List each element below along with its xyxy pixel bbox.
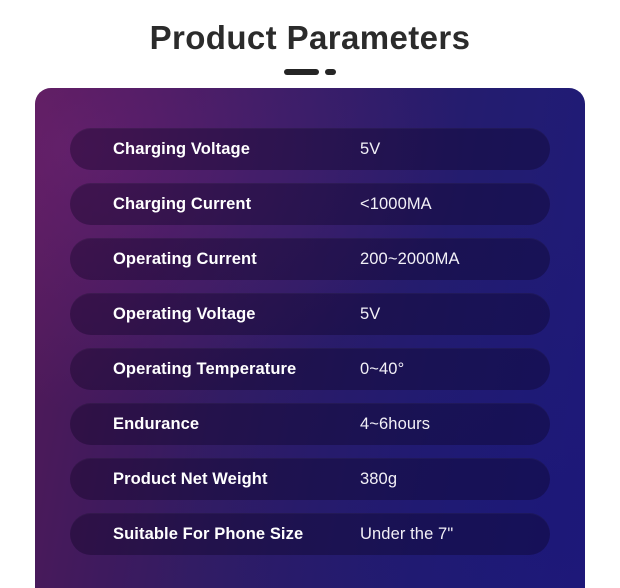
spec-value: <1000MA (360, 195, 432, 214)
product-parameters-page: Product Parameters Charging Voltage 5V C… (0, 0, 620, 565)
spec-row: Operating Current 200~2000MA (70, 238, 550, 280)
spec-label: Charging Voltage (113, 140, 250, 159)
spec-row: Endurance 4~6hours (70, 403, 550, 445)
short-dash-icon (325, 69, 336, 75)
spec-value: 0~40° (360, 360, 404, 379)
spec-row: Charging Voltage 5V (70, 128, 550, 170)
spec-label: Operating Temperature (113, 360, 296, 379)
spec-label: Operating Voltage (113, 305, 256, 324)
spec-card: Charging Voltage 5V Charging Current <10… (35, 88, 585, 588)
long-dash-icon (284, 69, 319, 75)
spec-label: Charging Current (113, 195, 251, 214)
spec-row: Operating Temperature 0~40° (70, 348, 550, 390)
spec-row: Operating Voltage 5V (70, 293, 550, 335)
spec-label: Endurance (113, 415, 199, 434)
spec-value: Under the 7" (360, 525, 453, 544)
title-divider (0, 68, 620, 76)
page-title: Product Parameters (0, 0, 620, 58)
spec-row: Suitable For Phone Size Under the 7" (70, 513, 550, 555)
spec-row: Product Net Weight 380g (70, 458, 550, 500)
spec-value: 380g (360, 470, 397, 489)
spec-value: 5V (360, 305, 380, 324)
spec-value: 5V (360, 140, 380, 159)
spec-value: 200~2000MA (360, 250, 460, 269)
spec-row: Charging Current <1000MA (70, 183, 550, 225)
page-header: Product Parameters (0, 0, 620, 76)
spec-label: Operating Current (113, 250, 257, 269)
spec-label: Product Net Weight (113, 470, 268, 489)
spec-value: 4~6hours (360, 415, 430, 434)
spec-label: Suitable For Phone Size (113, 525, 303, 544)
spec-list: Charging Voltage 5V Charging Current <10… (70, 128, 550, 555)
